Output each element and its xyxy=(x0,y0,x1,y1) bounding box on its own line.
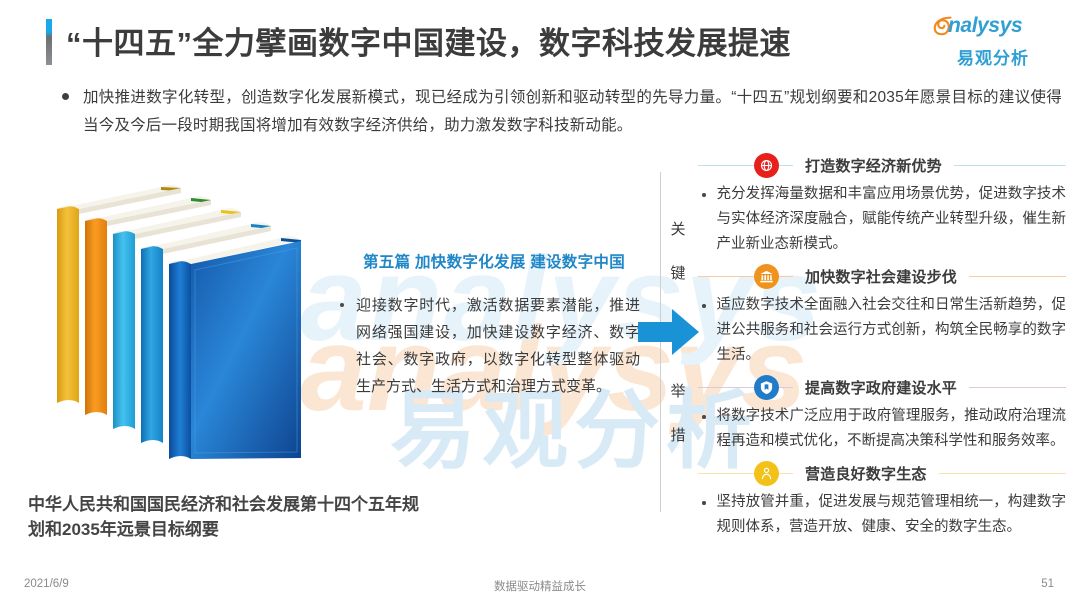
globe-icon xyxy=(754,153,779,178)
measure-body: 将数字技术广泛应用于政府管理服务，推动政府治理流程再造和模式优化，不断提高决策科… xyxy=(717,404,1067,454)
chapter-body: 迎接数字时代，激活数据要素潜能，推进网络强国建设，加快建设数字经济、数字社会、数… xyxy=(356,292,640,400)
lead-paragraph: 加快推进数字化转型，创造数字化发展新模式，现已经成为引领创新和驱动转型的先导力量… xyxy=(83,84,1062,140)
logo-text-en: nalysys xyxy=(948,14,1022,38)
bullet-dot-icon xyxy=(340,303,344,307)
shield-icon xyxy=(754,375,779,400)
measure-title: 打造数字经济新优势 xyxy=(793,155,954,176)
logo-text-cn: 易观分析 xyxy=(928,44,1058,69)
rule-right xyxy=(954,165,1066,166)
rule-gap xyxy=(779,276,793,277)
books-illustration xyxy=(45,175,330,480)
title-accent-bar xyxy=(46,19,52,65)
vertical-label-char-1: 关 xyxy=(668,218,688,239)
brand-logo: nalysys 易观分析 xyxy=(928,14,1058,69)
rule-gap xyxy=(779,387,793,388)
vertical-label-char-3: 举 xyxy=(668,380,688,401)
footer-slogan: 数据驱动精益成长 xyxy=(0,578,1080,594)
measure-item-1: 打造数字经济新优势 充分发挥海量数据和丰富应用场景优势，促进数字技术与实体经济深… xyxy=(698,150,1066,257)
bullet-dot-icon xyxy=(702,304,706,308)
measure-title: 提高数字政府建设水平 xyxy=(793,377,969,398)
bullet-dot-icon xyxy=(62,93,69,100)
vertical-label-char-4: 措 xyxy=(668,424,688,445)
bullet-dot-icon xyxy=(702,415,706,419)
lead-bullet: 加快推进数字化转型，创造数字化发展新模式，现已经成为引领创新和驱动转型的先导力量… xyxy=(62,84,1062,140)
vertical-label-char-2: 键 xyxy=(668,262,688,283)
measures-list: 打造数字经济新优势 充分发挥海量数据和丰富应用场景优势，促进数字技术与实体经济深… xyxy=(698,150,1066,544)
rule-right xyxy=(939,473,1066,474)
bank-icon xyxy=(754,264,779,289)
bullet-dot-icon xyxy=(702,193,706,197)
person-idea-icon xyxy=(754,461,779,486)
rule-left xyxy=(698,473,754,474)
middle-column: 第五篇 加快数字化发展 建设数字中国 迎接数字时代，激活数据要素潜能，推进网络强… xyxy=(340,250,640,400)
slide-canvas: analysys analysys 易观分析 “十四五”全力擘画数字中国建设，数… xyxy=(0,0,1080,608)
page-title: “十四五”全力擘画数字中国建设，数字科技发展提速 xyxy=(66,18,791,63)
rule-gap xyxy=(779,473,793,474)
measure-item-2: 加快数字社会建设步伐 适应数字技术全面融入社会交往和日常生活新趋势，促进公共服务… xyxy=(698,261,1066,368)
books-caption: 中华人民共和国国民经济和社会发展第十四个五年规划和2035年远景目标纲要 xyxy=(28,492,428,542)
rule-gap xyxy=(779,165,793,166)
rule-left xyxy=(698,387,754,388)
chapter-heading: 第五篇 加快数字化发展 建设数字中国 xyxy=(348,250,640,272)
bullet-dot-icon xyxy=(702,501,706,505)
measure-body: 充分发挥海量数据和丰富应用场景优势，促进数字技术与实体经济深度融合，赋能传统产业… xyxy=(717,182,1067,257)
measure-body: 适应数字技术全面融入社会交往和日常生活新趋势，促进公共服务和社会运行方式创新，构… xyxy=(717,293,1067,368)
right-arrow-icon xyxy=(638,307,700,357)
rule-right xyxy=(969,276,1066,277)
rule-left xyxy=(698,276,754,277)
rule-left xyxy=(698,165,754,166)
measure-item-4: 营造良好数字生态 坚持放管并重，促进发展与规范管理相统一，构建数字规则体系，营造… xyxy=(698,458,1066,540)
measure-body: 坚持放管并重，促进发展与规范管理相统一，构建数字规则体系，营造开放、健康、安全的… xyxy=(717,490,1067,540)
measure-item-3: 提高数字政府建设水平 将数字技术广泛应用于政府管理服务，推动政府治理流程再造和模… xyxy=(698,372,1066,454)
measure-title: 营造良好数字生态 xyxy=(793,463,939,484)
measure-title: 加快数字社会建设步伐 xyxy=(793,266,969,287)
rule-right xyxy=(969,387,1066,388)
footer-page-number: 51 xyxy=(1041,578,1054,590)
